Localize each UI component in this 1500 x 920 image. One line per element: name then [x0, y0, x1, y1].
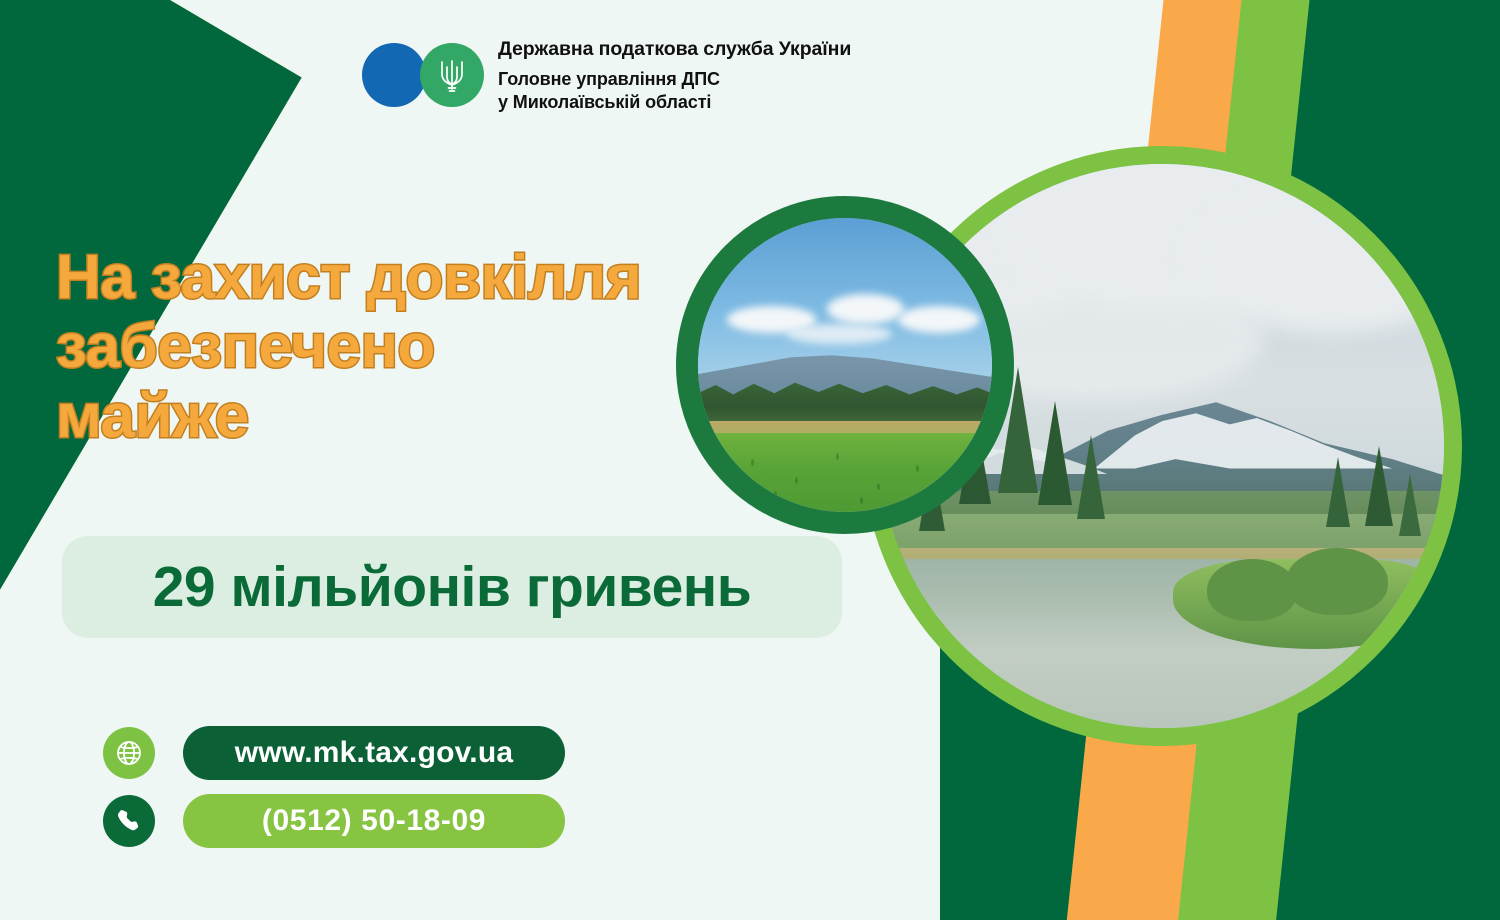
grass-fleck	[916, 465, 919, 472]
conifer-tree	[1038, 401, 1072, 505]
headline-line-2: забезпечено	[56, 312, 736, 381]
globe-icon	[103, 727, 155, 779]
logo-text-block: Державна податкова служба України Головн…	[498, 36, 851, 114]
website-pill[interactable]: www.mk.tax.gov.ua	[183, 726, 565, 780]
bush-shape	[1286, 548, 1388, 616]
conifer-tree	[1326, 457, 1350, 527]
department-name-line2: у Миколаївській області	[498, 91, 851, 114]
conifer-tree	[1077, 435, 1105, 519]
amount-value: 29 мільйонів гривень	[153, 554, 752, 620]
grass-fleck	[795, 477, 798, 484]
website-contact-row[interactable]: www.mk.tax.gov.ua	[103, 726, 565, 780]
department-name: Головне управління ДПС у Миколаївській о…	[498, 68, 851, 114]
globe-icon-glyph	[114, 738, 144, 768]
conifer-tree	[1365, 446, 1393, 526]
bush-shape	[1207, 559, 1297, 621]
department-name-line1: Головне управління ДПС	[498, 68, 851, 91]
amount-highlight-box: 29 мільйонів гривень	[62, 536, 842, 638]
cloud-shape	[898, 306, 980, 332]
phone-icon-glyph	[115, 807, 143, 835]
conifer-tree	[1399, 474, 1421, 536]
promo-banner: Державна податкова служба України Головн…	[0, 0, 1500, 920]
phone-pill[interactable]: (0512) 50-18-09	[183, 794, 565, 848]
page-title: На захист довкілля забезпечено майже	[56, 243, 736, 451]
headline-line-3: майже	[56, 382, 736, 451]
grass-fleck	[860, 497, 863, 504]
phone-contact-row[interactable]: (0512) 50-18-09	[103, 794, 565, 848]
agency-name: Державна податкова служба України	[498, 38, 851, 61]
grass-fleck	[751, 459, 754, 466]
phone-icon	[103, 795, 155, 847]
logo-marks	[362, 40, 484, 110]
organization-logo-block: Державна податкова служба України Головн…	[362, 36, 851, 114]
website-label: www.mk.tax.gov.ua	[235, 736, 513, 770]
blue-circle-mark	[362, 43, 426, 107]
trident-icon	[437, 57, 467, 93]
cloud-shape	[827, 294, 903, 323]
meadow-hills-photo	[676, 196, 1014, 534]
headline-line-1: На захист довкілля	[56, 243, 736, 312]
phone-label: (0512) 50-18-09	[262, 804, 486, 838]
green-circle-trident-mark	[420, 43, 484, 107]
green-meadow	[698, 433, 992, 512]
